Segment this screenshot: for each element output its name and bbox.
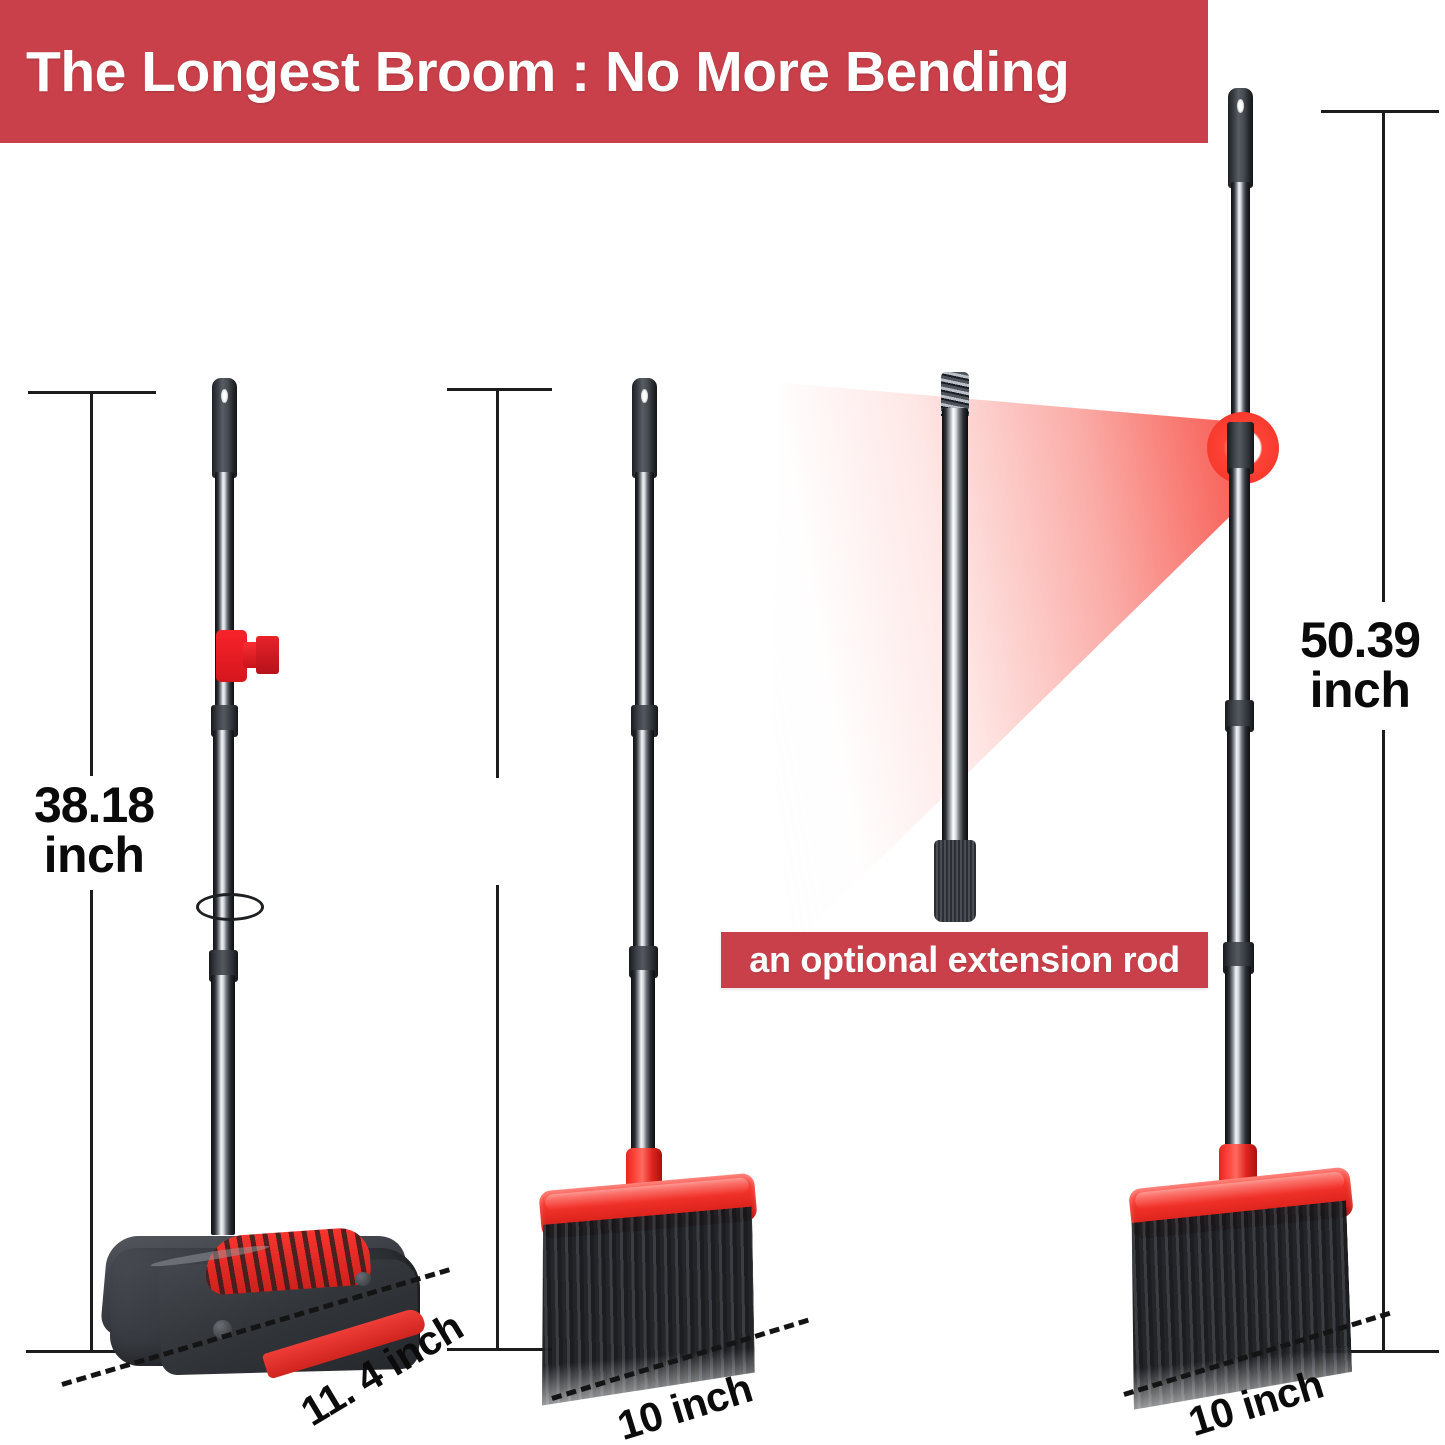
- middle-broom-pole-lower: [631, 970, 655, 1160]
- left-dimension-line-upper: [90, 391, 93, 776]
- right-dimension-line-upper: [1382, 110, 1385, 602]
- left-dimension-value: 38.18: [8, 780, 180, 830]
- extension-rod-tube: [942, 408, 968, 848]
- left-broom-pole-lower: [211, 975, 235, 1235]
- right-broom-pole-upper: [1231, 182, 1250, 422]
- right-dimension-label: 50.39 inch: [1272, 615, 1445, 715]
- left-broom-hang-hole: [221, 389, 228, 403]
- left-broom-pole-middle: [213, 730, 234, 958]
- left-dimension-unit: inch: [8, 830, 180, 880]
- right-dimension-value: 50.39: [1272, 615, 1445, 665]
- middle-broom-hang-hole: [641, 389, 648, 403]
- left-dimension-line-lower: [90, 890, 93, 1352]
- extension-highlight-beam: [772, 318, 1234, 966]
- right-broom-extension-joint: [1227, 422, 1254, 474]
- right-broom-pole-lower: [1225, 966, 1251, 1156]
- right-broom-hang-hole: [1237, 99, 1244, 113]
- dustpan-comb-teeth: [203, 1226, 372, 1295]
- infographic-canvas: The Longest Broom : No More Bending 38.1…: [0, 0, 1445, 1445]
- right-broom-pole-third: [1227, 726, 1250, 948]
- right-dimension-line-lower: [1382, 730, 1385, 1352]
- extension-rod-grip: [934, 840, 976, 922]
- middle-dimension-line-lower: [496, 885, 499, 1350]
- right-broom-pole-second: [1229, 468, 1250, 710]
- middle-broom-pole-upper: [635, 472, 654, 714]
- middle-dimension-top-cap: [447, 388, 552, 391]
- rotation-indicator-ellipse: [196, 893, 264, 921]
- middle-dimension-line-upper: [496, 388, 499, 778]
- left-broom-red-clip-tab: [256, 636, 279, 674]
- dustpan-side-button: [355, 1272, 371, 1286]
- extension-rod-callout-text: an optional extension rod: [749, 939, 1180, 981]
- left-dimension-label: 38.18 inch: [8, 780, 180, 880]
- middle-broom-pole-middle: [633, 730, 654, 952]
- page-title: The Longest Broom : No More Bending: [0, 39, 1069, 105]
- right-dimension-unit: inch: [1272, 665, 1445, 715]
- middle-broom-head-highlight: [545, 1177, 750, 1211]
- header-banner: The Longest Broom : No More Bending: [0, 0, 1208, 143]
- dustpan-red-comb: [203, 1226, 372, 1295]
- extension-rod-callout: an optional extension rod: [721, 932, 1208, 988]
- middle-dimension-bottom-cap: [447, 1348, 552, 1351]
- right-dimension-top-cap: [1321, 110, 1439, 113]
